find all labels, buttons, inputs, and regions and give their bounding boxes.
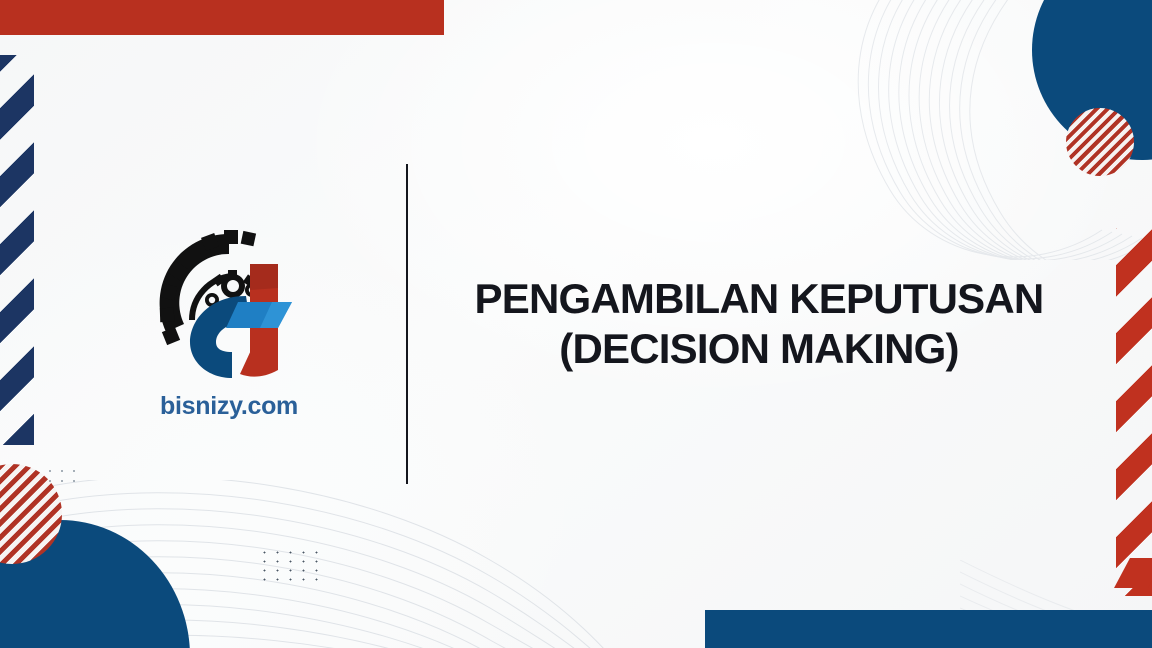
content-row: bisnizy.com PENGAMBILAN KEPUTUSAN (DECIS…	[74, 164, 1060, 484]
vertical-divider	[406, 164, 408, 484]
slide-content: bisnizy.com PENGAMBILAN KEPUTUSAN (DECIS…	[0, 0, 1152, 648]
slide-canvas: bisnizy.com PENGAMBILAN KEPUTUSAN (DECIS…	[0, 0, 1152, 648]
page-title-line-1: PENGAMBILAN KEPUTUSAN	[458, 274, 1060, 324]
gear-letter-g-logo-icon	[154, 228, 304, 378]
page-title-line-2: (DECISION MAKING)	[458, 324, 1060, 374]
title-block: PENGAMBILAN KEPUTUSAN (DECISION MAKING)	[420, 274, 1060, 373]
brand-name: bisnizy.com	[160, 392, 298, 421]
brand-block: bisnizy.com	[74, 228, 384, 421]
